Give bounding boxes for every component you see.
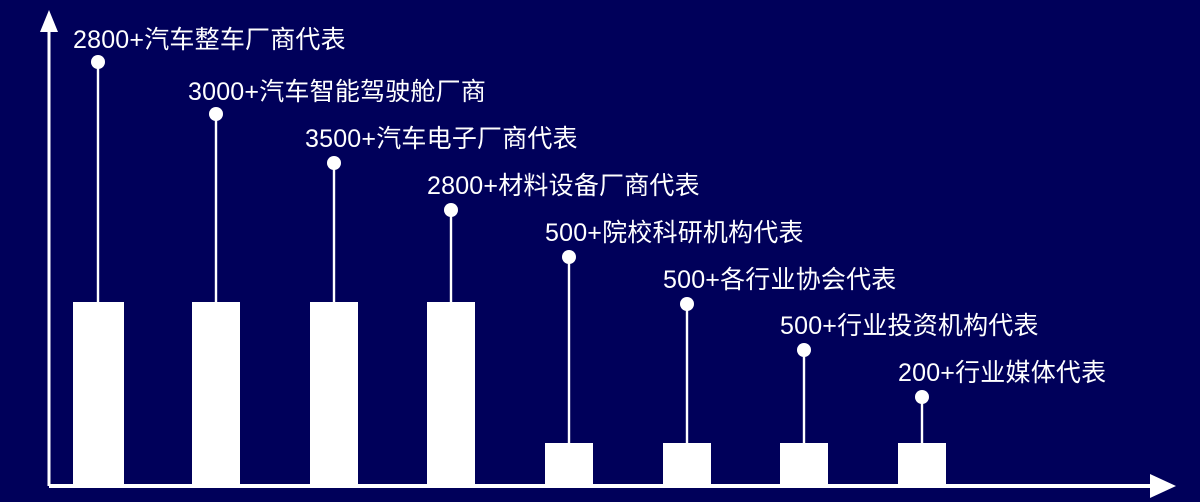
callout-dot-icon [91,55,105,69]
callout-dot-icon [915,390,929,404]
callout-dot-icon [209,107,223,121]
chart-bar [73,302,124,485]
chart-bar [192,302,240,485]
bar-chart-infographic: 2800+汽车整车厂商代表3000+汽车智能驾驶舱厂商3500+汽车电子厂商代表… [0,0,1200,502]
callout-dot-icon [797,343,811,357]
callout-dot-icon [562,250,576,264]
chart-bar [310,302,358,485]
callout-dot-icon [680,297,694,311]
chart-bar [898,443,946,485]
y-axis-arrow-icon [40,10,58,32]
callout-dot-icon [444,203,458,217]
callout-dot-icon [327,156,341,170]
chart-canvas [0,0,1200,502]
x-axis-arrow-icon [1150,474,1176,498]
chart-bar [663,443,711,485]
chart-bar [427,302,475,485]
bars-group [73,55,946,485]
chart-bar [545,443,593,485]
chart-bar [780,443,828,485]
